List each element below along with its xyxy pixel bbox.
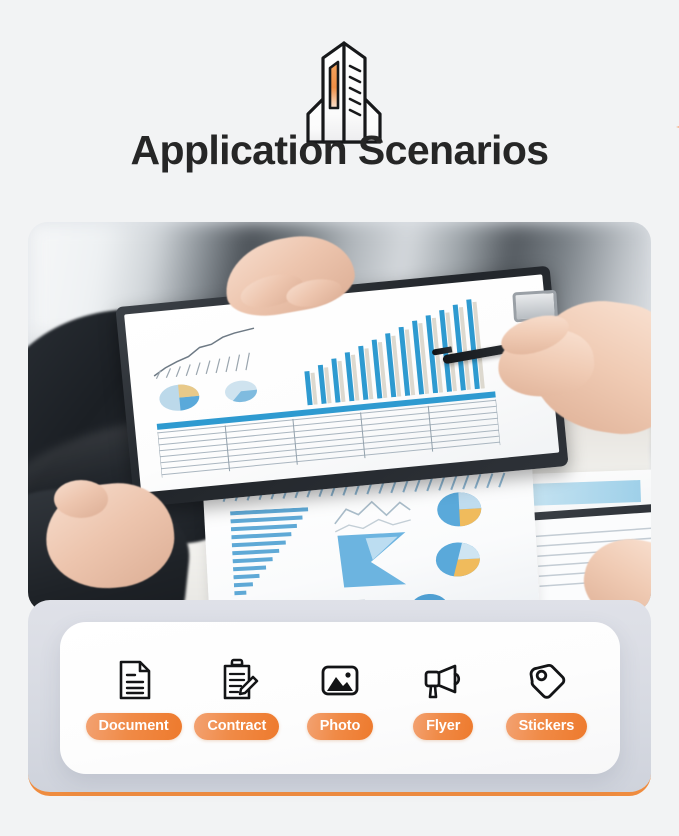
photo-scene	[28, 222, 651, 612]
category-label-document[interactable]: Document	[86, 713, 182, 740]
sparkle-icon	[675, 112, 679, 142]
category-item-flyer[interactable]: Flyer	[392, 657, 495, 740]
image-icon	[317, 657, 363, 703]
tag-icon	[523, 657, 569, 703]
megaphone-icon	[420, 657, 466, 703]
category-label-stickers[interactable]: Stickers	[506, 713, 588, 740]
header: Application Scenarios	[0, 0, 679, 215]
scenario-photo	[28, 222, 651, 612]
category-label-flyer[interactable]: Flyer	[413, 713, 473, 740]
clipboard-pie-2	[223, 378, 259, 404]
desk-paper-pie-a	[435, 490, 483, 528]
main-clipboard	[124, 274, 560, 498]
category-item-contract[interactable]: Contract	[185, 657, 288, 740]
category-label-photo[interactable]: Photo	[307, 713, 374, 740]
clipboard-trend-line	[148, 326, 262, 380]
category-label-contract[interactable]: Contract	[194, 713, 279, 740]
desk-paper-pie-b	[434, 540, 482, 578]
category-card: Document Contract	[60, 622, 620, 774]
category-item-document[interactable]: Document	[82, 657, 185, 740]
desk-paper-abstract-shape	[335, 526, 410, 592]
clipboard-pie-1	[157, 382, 201, 414]
knuckle-bottom-left	[54, 480, 108, 518]
desk-paper-horizontal-bars	[230, 507, 316, 597]
category-item-stickers[interactable]: Stickers	[495, 657, 598, 740]
page-title: Application Scenarios	[0, 128, 679, 174]
page-title-text: Application Scenarios	[130, 128, 548, 174]
clipboard-pen-icon	[214, 657, 260, 703]
category-item-photo[interactable]: Photo	[288, 657, 391, 740]
right-paper-band	[520, 480, 641, 506]
document-icon	[111, 657, 157, 703]
